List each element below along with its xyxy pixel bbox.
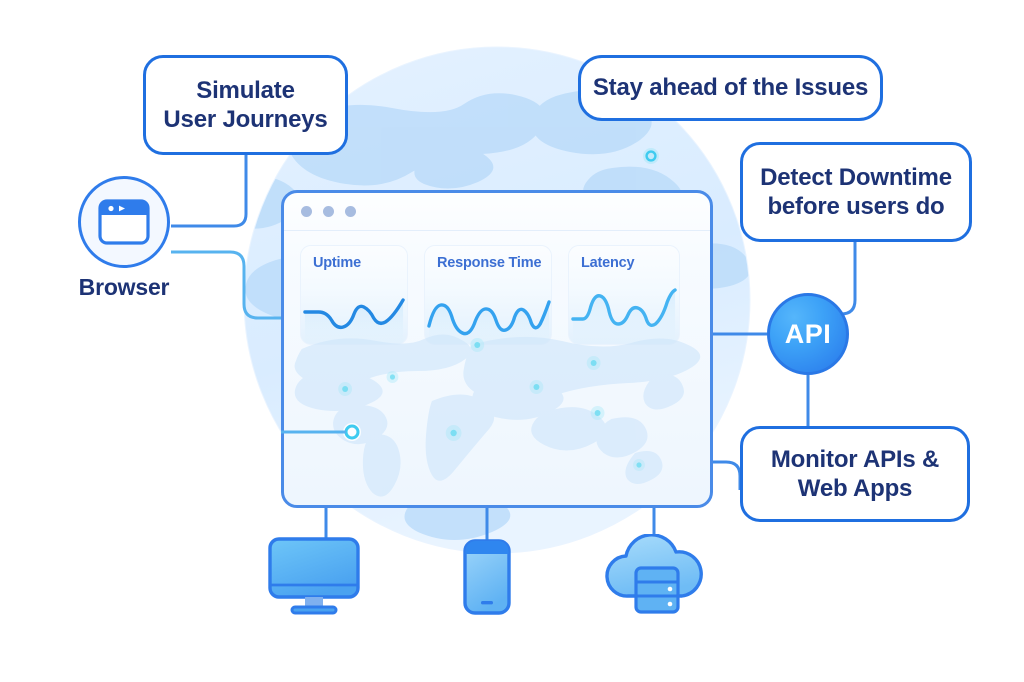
callout-monitor-apis-web-apps[interactable]: Monitor APIs & Web Apps (740, 426, 970, 522)
browser-label: Browser (56, 274, 192, 301)
callout-detect-downtime[interactable]: Detect Downtime before users do (740, 142, 972, 242)
browser-node[interactable]: Browser (78, 176, 170, 268)
infographic-canvas: Uptime Response Time (0, 0, 1024, 682)
callout-text: Detect Downtime before users do (760, 163, 952, 222)
browser-icon-circle (78, 176, 170, 268)
callout-text: Simulate User Journeys (163, 76, 327, 135)
browser-window-icon (98, 199, 150, 245)
callout-stay-ahead-of-issues[interactable]: Stay ahead of the Issues (578, 55, 883, 121)
callout-simulate-user-journeys[interactable]: Simulate User Journeys (143, 55, 348, 155)
callout-text: Stay ahead of the Issues (593, 73, 868, 102)
api-node[interactable]: API (767, 293, 849, 375)
api-label: API (785, 319, 832, 350)
callout-text: Monitor APIs & Web Apps (771, 445, 939, 504)
